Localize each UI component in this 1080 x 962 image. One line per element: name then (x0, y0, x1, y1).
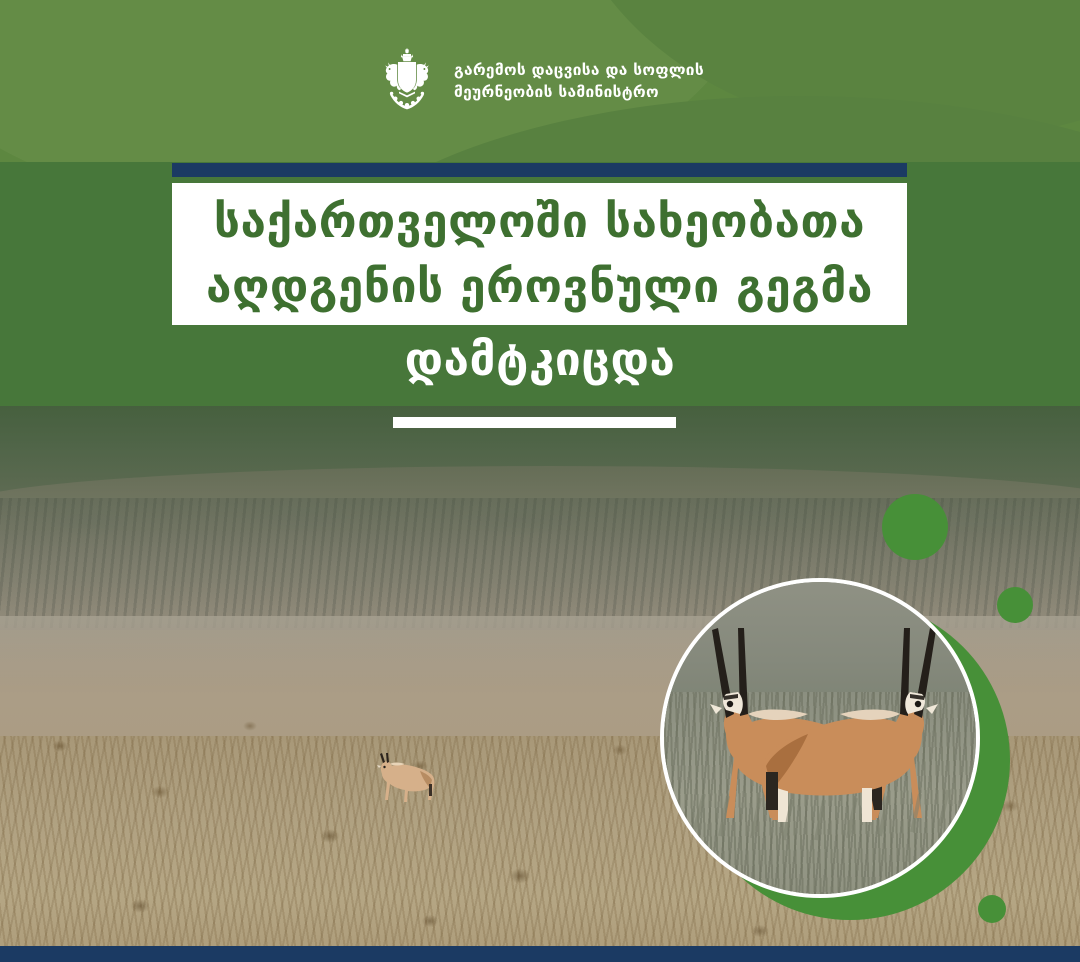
gazelle-main-subject (352, 744, 462, 830)
ministry-name: გარემოს დაცვისა და სოფლის მეურნეობის სამ… (454, 59, 704, 103)
page-title-line-2: აღდგენის ეროვნული გეგმა (206, 254, 873, 319)
ministry-lockup: გარემოს დაცვისა და სოფლის მეურნეობის სამ… (0, 0, 1080, 162)
title-navy-rule (172, 163, 907, 177)
accent-circle-medium (997, 587, 1033, 623)
accent-circle-small (978, 895, 1006, 923)
poster-canvas: გარემოს დაცვისა და სოფლის მეურნეობის სამ… (0, 0, 1080, 962)
footer-navy-bar (0, 946, 1080, 962)
accent-circle-large (882, 494, 948, 560)
georgia-coat-of-arms-icon (376, 46, 438, 116)
page-title-line-3: დამტკიცდა (0, 332, 1080, 387)
inset-gazelles-subject (664, 582, 980, 898)
inset-photo-circle (660, 578, 980, 898)
page-title-line-1: საქართველოში სახეობათა (214, 189, 865, 254)
title-white-box: საქართველოში სახეობათა აღდგენის ეროვნული… (172, 183, 907, 325)
title-underline-rule (393, 417, 676, 428)
